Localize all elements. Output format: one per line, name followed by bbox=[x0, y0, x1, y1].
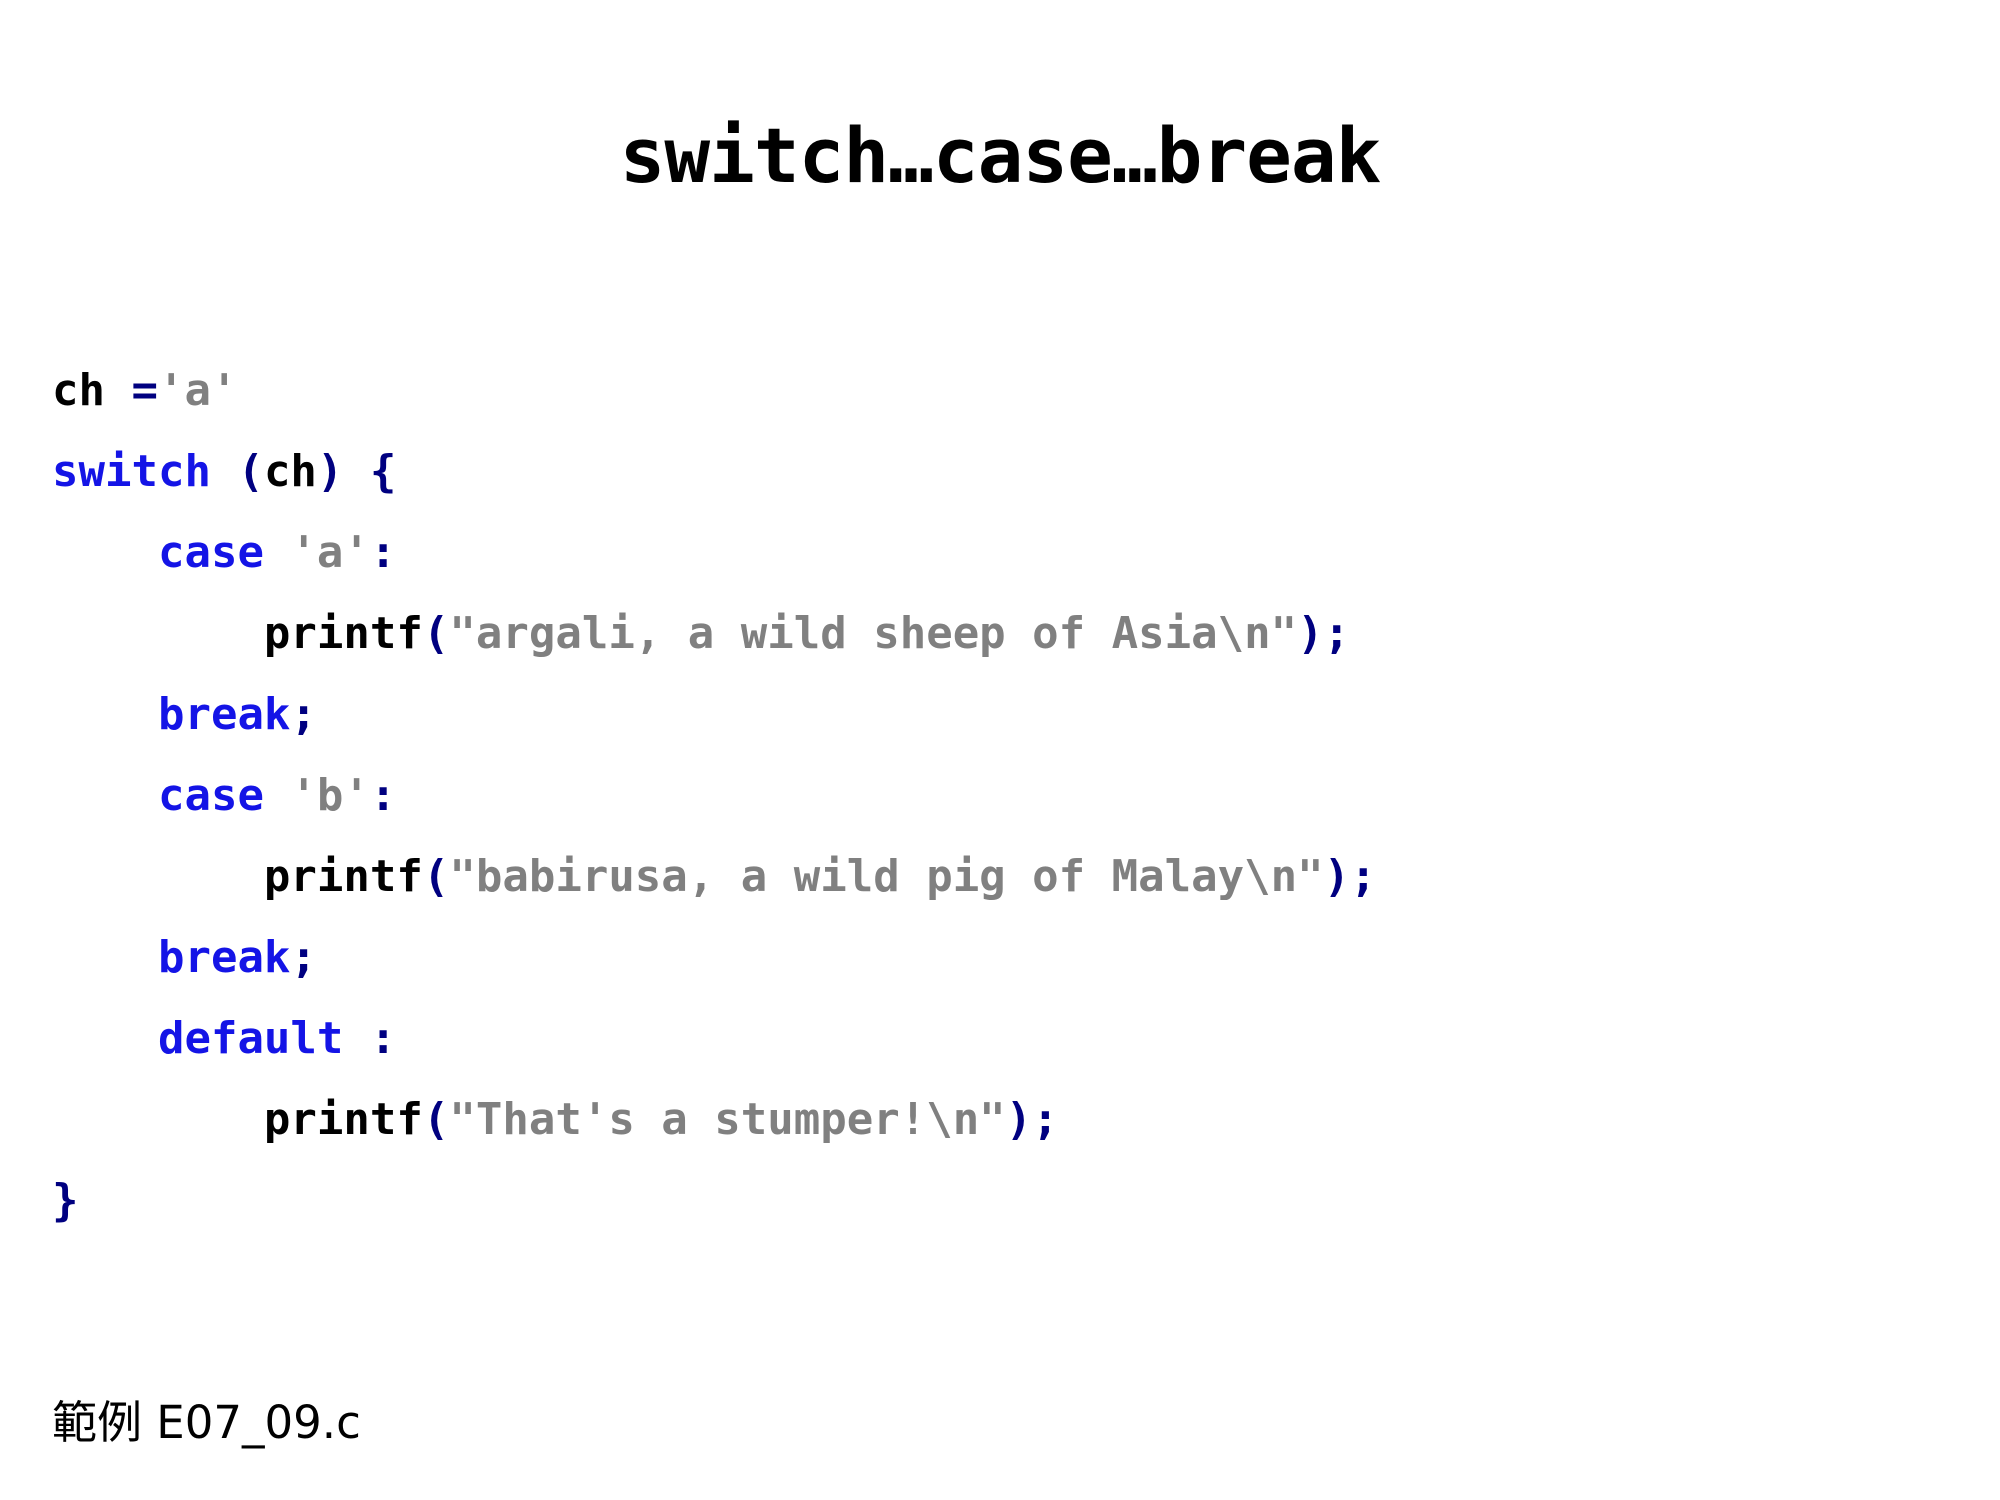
code-token-plain bbox=[264, 527, 291, 578]
code-token-keyword: switch bbox=[52, 446, 211, 497]
code-token-string: "argali, a wild sheep of Asia\n" bbox=[449, 608, 1297, 659]
code-token-string: 'a' bbox=[290, 527, 369, 578]
code-token-keyword: case bbox=[158, 770, 264, 821]
code-token-plain: printf bbox=[264, 608, 423, 659]
code-token-keyword: break bbox=[158, 932, 290, 983]
code-token-punct: ( bbox=[423, 851, 450, 902]
code-line: } bbox=[52, 1160, 1952, 1241]
code-token-punct: ); bbox=[1006, 1094, 1059, 1145]
code-line: switch (ch) { bbox=[52, 431, 1952, 512]
code-line: printf("argali, a wild sheep of Asia\n")… bbox=[52, 593, 1952, 674]
code-indent bbox=[52, 770, 158, 821]
code-token-plain: printf bbox=[264, 1094, 423, 1145]
code-token-plain bbox=[264, 770, 291, 821]
code-token-string: 'b' bbox=[290, 770, 369, 821]
code-token-string: "babirusa, a wild pig of Malay\n" bbox=[449, 851, 1323, 902]
code-token-plain: printf bbox=[264, 851, 423, 902]
code-line: printf("That's a stumper!\n"); bbox=[52, 1079, 1952, 1160]
code-token-punct: : bbox=[370, 770, 397, 821]
code-line: break; bbox=[52, 917, 1952, 998]
code-token-punct: ( bbox=[423, 608, 450, 659]
slide-footer-label: 範例 E07_09.c bbox=[52, 1396, 361, 1450]
code-token-punct: ( bbox=[211, 446, 264, 497]
code-token-punct: : bbox=[370, 1013, 397, 1064]
slide-canvas: switch…case…break ch ='a'switch (ch) { c… bbox=[0, 0, 2000, 1500]
code-token-keyword: case bbox=[158, 527, 264, 578]
code-block: ch ='a'switch (ch) { case 'a': printf("a… bbox=[52, 350, 1952, 1241]
code-token-keyword: break bbox=[158, 689, 290, 740]
code-indent bbox=[52, 1013, 158, 1064]
code-line: break; bbox=[52, 674, 1952, 755]
code-indent bbox=[52, 932, 158, 983]
code-token-plain: ch bbox=[52, 365, 131, 416]
code-token-punct: = bbox=[131, 365, 158, 416]
code-token-punct: : bbox=[370, 527, 397, 578]
code-indent bbox=[52, 608, 264, 659]
code-token-punct: ); bbox=[1324, 851, 1377, 902]
code-token-punct: ); bbox=[1297, 608, 1350, 659]
code-token-plain bbox=[343, 1013, 370, 1064]
code-indent bbox=[52, 851, 264, 902]
code-token-string: 'a' bbox=[158, 365, 237, 416]
code-line: case 'a': bbox=[52, 512, 1952, 593]
code-token-punct: ; bbox=[290, 689, 317, 740]
code-token-punct: ( bbox=[423, 1094, 450, 1145]
code-indent bbox=[52, 689, 158, 740]
code-line: default : bbox=[52, 998, 1952, 1079]
code-line: printf("babirusa, a wild pig of Malay\n"… bbox=[52, 836, 1952, 917]
code-line: ch ='a' bbox=[52, 350, 1952, 431]
code-token-punct: ; bbox=[290, 932, 317, 983]
code-token-string: "That's a stumper!\n" bbox=[449, 1094, 1005, 1145]
code-indent bbox=[52, 527, 158, 578]
code-token-punct: ) { bbox=[317, 446, 396, 497]
code-token-plain: ch bbox=[264, 446, 317, 497]
code-indent bbox=[52, 1094, 264, 1145]
page-title: switch…case…break bbox=[0, 118, 2000, 194]
code-token-keyword: default bbox=[158, 1013, 343, 1064]
code-line: case 'b': bbox=[52, 755, 1952, 836]
code-token-punct: } bbox=[52, 1175, 79, 1226]
